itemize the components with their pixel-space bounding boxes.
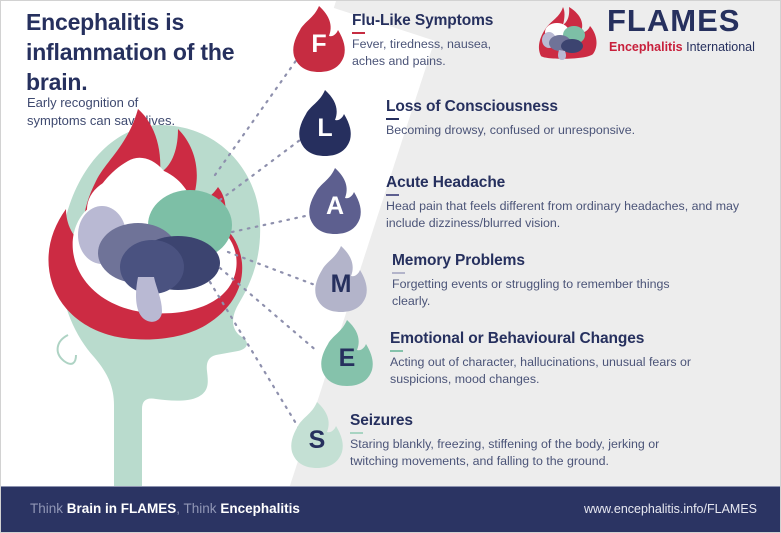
drop-letter-e: E <box>318 318 376 388</box>
symptom-heading-s: Seizures <box>350 412 700 430</box>
symptom-text-l: Loss of Consciousness Becoming drowsy, c… <box>386 98 696 139</box>
drop-letter-l: L <box>296 88 354 158</box>
symptom-row-a[interactable]: A Acute Headache Head pain that feels di… <box>306 166 781 240</box>
connector-line-l <box>220 140 300 200</box>
heading-underline-s <box>350 432 363 435</box>
footer-url[interactable]: www.encephalitis.info/FLAMES <box>584 502 757 516</box>
drop-badge-a: A <box>306 166 364 236</box>
symptom-description-f: Fever, tiredness, nausea, aches and pain… <box>352 36 512 69</box>
drop-badge-s: S <box>288 400 346 470</box>
symptom-text-a: Acute Headache Head pain that feels diff… <box>386 174 756 231</box>
heading-underline-m <box>392 272 405 275</box>
drop-badge-l: L <box>296 88 354 158</box>
footer-brain-in-flames: Brain in FLAMES <box>67 501 177 516</box>
symptom-row-l[interactable]: L Loss of Consciousness Becoming drowsy,… <box>296 88 776 158</box>
symptom-text-f: Flu-Like Symptoms Fever, tiredness, naus… <box>352 12 512 69</box>
connector-line-m <box>228 252 315 285</box>
drop-letter-f: F <box>290 4 348 74</box>
brain-in-flames-icon <box>535 6 601 60</box>
symptom-heading-a: Acute Headache <box>386 174 756 192</box>
symptom-description-e: Acting out of character, hallucinations,… <box>390 354 730 387</box>
symptom-description-s: Staring blankly, freezing, stiffening of… <box>350 436 700 469</box>
symptom-heading-e: Emotional or Behavioural Changes <box>390 330 730 348</box>
heading-underline-l <box>386 118 399 121</box>
drop-badge-m: M <box>312 244 370 314</box>
flames-logo[interactable]: FLAMES Encephalitis International <box>535 6 767 62</box>
drop-letter-m: M <box>312 244 370 314</box>
heading-underline-a <box>386 194 399 197</box>
footer-comma: , <box>176 501 183 516</box>
drop-badge-f: F <box>290 4 348 74</box>
drop-letter-s: S <box>288 400 346 470</box>
heading-underline-f <box>352 32 365 35</box>
footer-think-2: Think <box>184 501 221 516</box>
symptom-row-m[interactable]: M Memory Problems Forgetting events or s… <box>312 244 781 318</box>
connector-line-a <box>232 215 310 232</box>
symptom-text-m: Memory Problems Forgetting events or str… <box>392 252 692 309</box>
symptom-heading-l: Loss of Consciousness <box>386 98 696 116</box>
logo-org-bold: Encephalitis <box>609 40 683 54</box>
symptom-description-m: Forgetting events or struggling to remem… <box>392 276 692 309</box>
symptom-description-a: Head pain that feels different from ordi… <box>386 198 756 231</box>
symptom-row-s[interactable]: S Seizures Staring blankly, freezing, st… <box>288 400 778 478</box>
footer-think-1: Think <box>30 501 67 516</box>
symptom-row-e[interactable]: E Emotional or Behavioural Changes Actin… <box>318 318 781 396</box>
infographic-canvas: Encephalitis is inflammation of the brai… <box>0 0 781 533</box>
connector-line-f <box>215 55 300 175</box>
logo-wordmark: FLAMES <box>607 5 740 36</box>
symptom-text-s: Seizures Staring blankly, freezing, stif… <box>350 412 700 469</box>
drop-badge-e: E <box>318 318 376 388</box>
drop-letter-a: A <box>306 166 364 236</box>
logo-org-light: International <box>683 40 755 54</box>
symptom-text-e: Emotional or Behavioural Changes Acting … <box>390 330 730 387</box>
footer-bar: Think Brain in FLAMES, Think Encephaliti… <box>0 486 781 533</box>
heading-underline-e <box>390 350 403 353</box>
symptom-heading-m: Memory Problems <box>392 252 692 270</box>
footer-encephalitis: Encephalitis <box>220 501 300 516</box>
logo-tagline: Encephalitis International <box>609 41 755 54</box>
symptom-description-l: Becoming drowsy, confused or unresponsiv… <box>386 122 696 138</box>
symptom-heading-f: Flu-Like Symptoms <box>352 12 512 30</box>
connector-line-s <box>210 282 300 430</box>
footer-slogan: Think Brain in FLAMES, Think Encephaliti… <box>30 501 300 516</box>
